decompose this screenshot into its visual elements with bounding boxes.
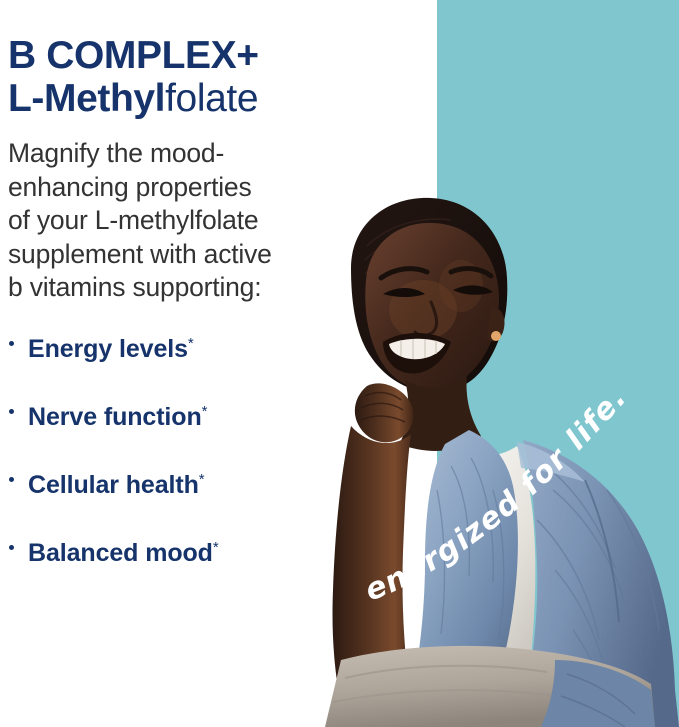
body-copy-line: enhancing properties [8, 171, 353, 205]
list-item: Energy levels* [8, 329, 438, 364]
page-title: B COMPLEX+ L-Methylfolate [8, 0, 438, 120]
headline-line-2-bold: L-Methyl [8, 77, 165, 120]
list-item: Balanced mood* [8, 533, 438, 568]
headline-line-2: L-Methylfolate [8, 77, 438, 120]
benefit-label: Nerve function [28, 403, 202, 431]
body-copy-line: of your L-methylfolate [8, 204, 353, 238]
footnote-marker: * [213, 539, 219, 556]
footnote-marker: * [188, 335, 194, 352]
headline-line-2-regular: folate [165, 77, 258, 120]
list-item: Nerve function* [8, 397, 438, 432]
footnote-marker: * [202, 403, 208, 420]
benefit-label: Cellular health [28, 471, 199, 499]
body-copy-line: supplement with active [8, 238, 353, 272]
headline-line-1: B COMPLEX+ [8, 34, 438, 77]
body-copy: Magnify the mood- enhancing properties o… [8, 120, 353, 305]
benefits-list: Energy levels* Nerve function* Cellular … [8, 305, 438, 568]
footnote-marker: * [199, 471, 205, 488]
body-copy-line: Magnify the mood- [8, 137, 353, 171]
product-poster: energized for life. B COMPLEX+ L-Methylf… [0, 0, 679, 727]
list-item: Cellular health* [8, 465, 438, 500]
benefit-label: Energy levels [28, 335, 188, 363]
benefit-label: Balanced mood [28, 539, 213, 567]
body-copy-line: b vitamins supporting: [8, 271, 353, 305]
content-column: B COMPLEX+ L-Methylfolate Magnify the mo… [8, 0, 438, 727]
